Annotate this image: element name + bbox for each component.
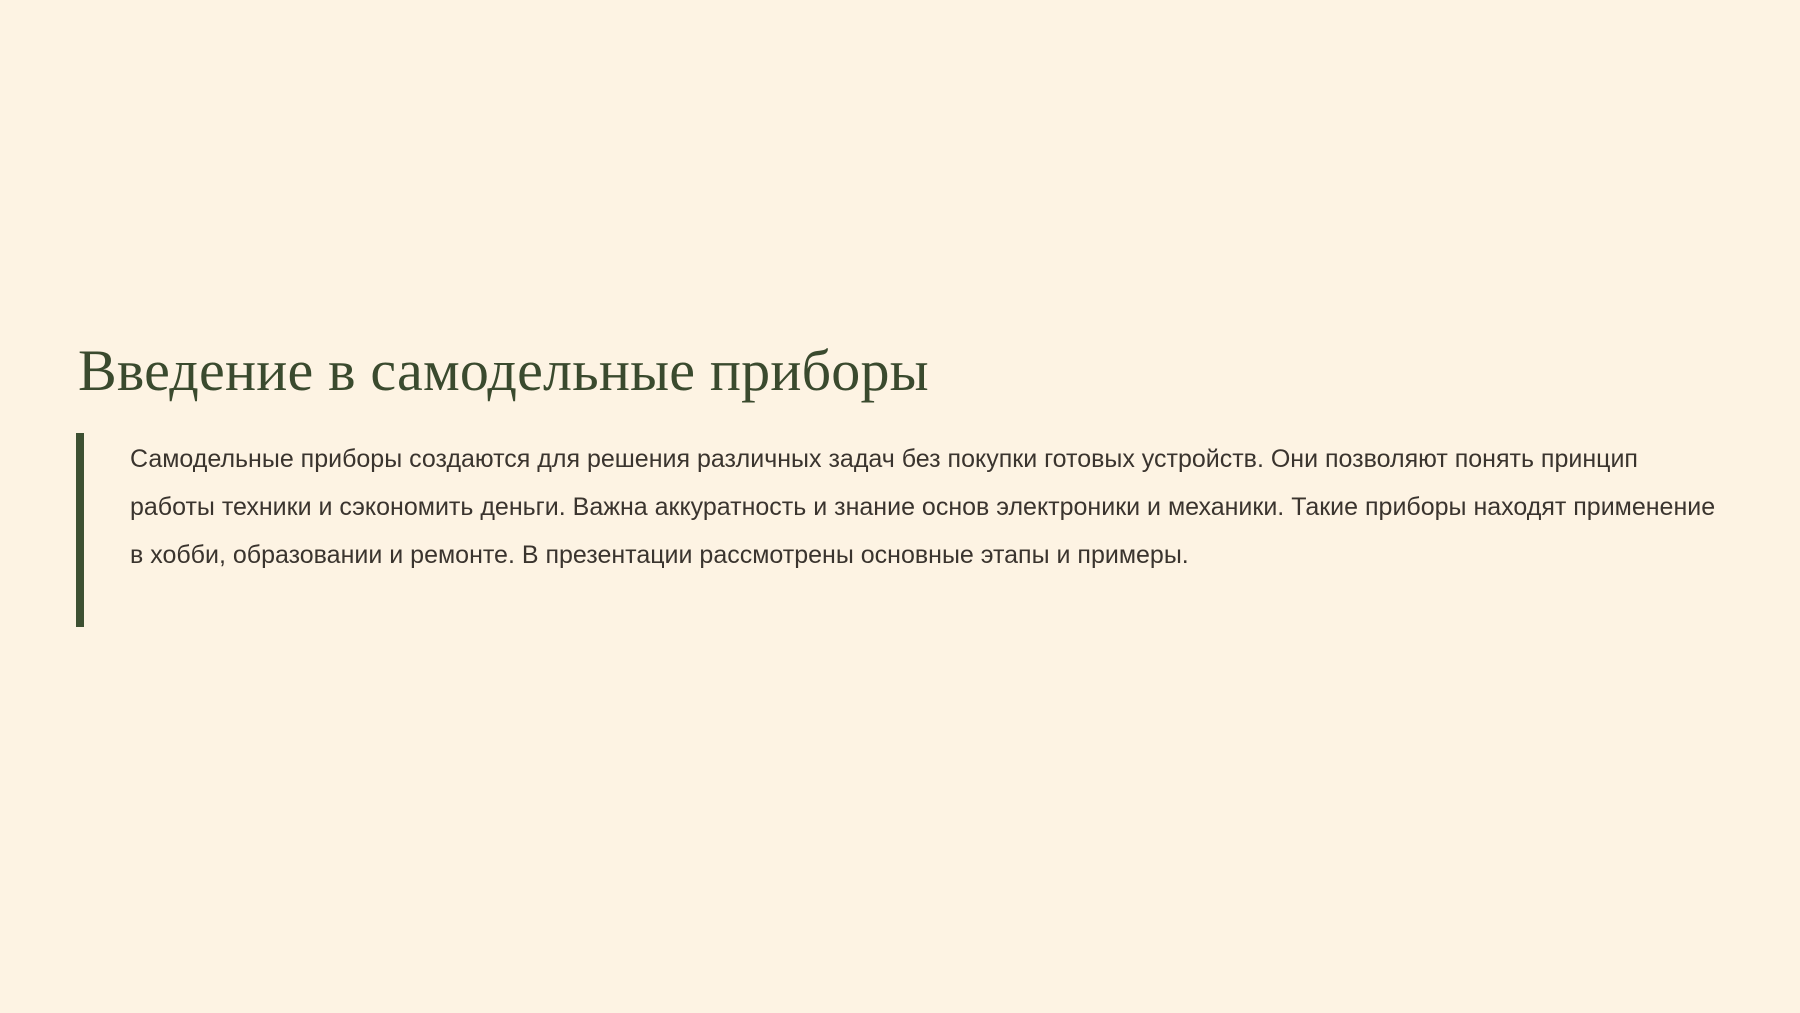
body-block: Самодельные приборы создаются для решени…: [76, 433, 1726, 627]
slide-canvas: Введение в самодельные приборы Самодельн…: [0, 0, 1800, 1013]
body-paragraph: Самодельные приборы создаются для решени…: [130, 435, 1720, 579]
accent-bar: [76, 433, 84, 627]
slide-content: Введение в самодельные приборы Самодельн…: [76, 340, 1726, 627]
body-text: Самодельные приборы создаются для решени…: [130, 433, 1720, 627]
page-title: Введение в самодельные приборы: [76, 340, 1726, 403]
